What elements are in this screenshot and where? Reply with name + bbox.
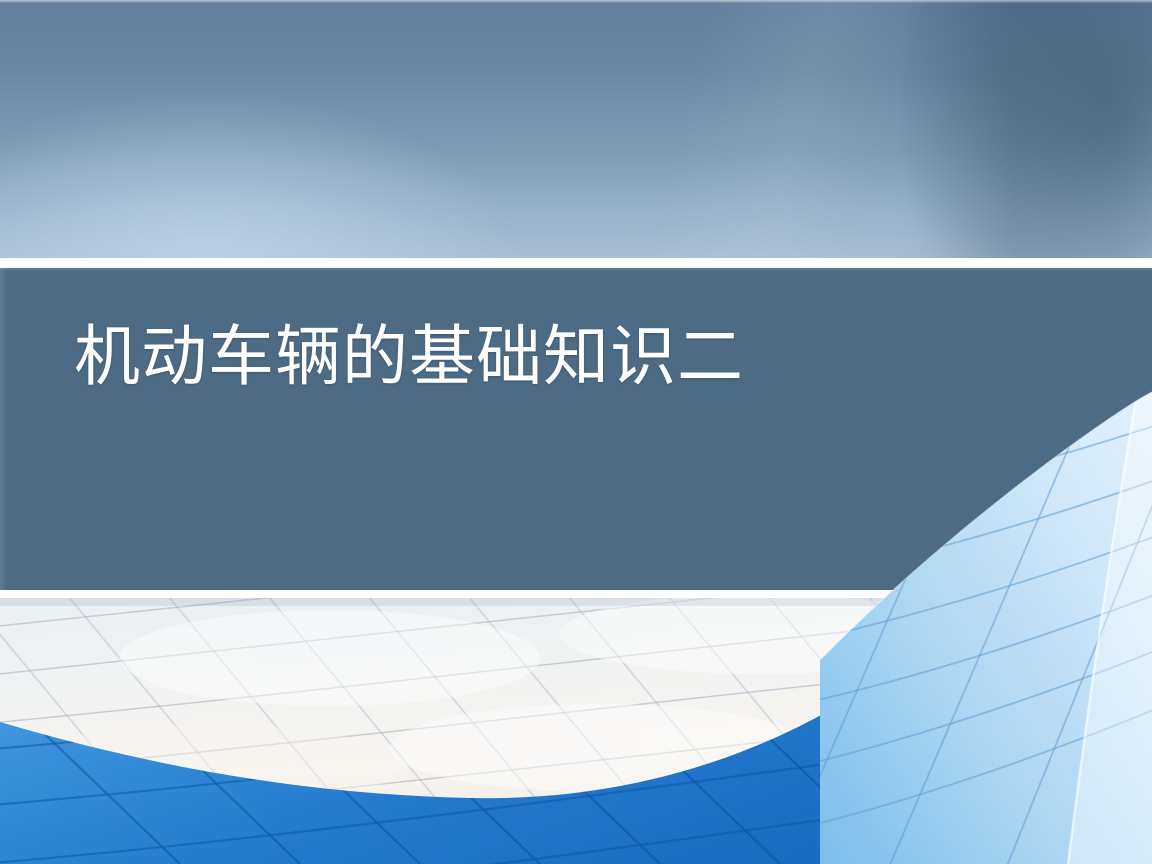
title-band-left-edge: [0, 268, 8, 590]
separator-above-title: [0, 258, 1152, 268]
wave-mesh-graphic: [0, 598, 1152, 864]
slide-title[interactable]: 机动车辆的基础知识二: [74, 320, 1034, 397]
separator-below-title: [0, 590, 1152, 598]
slide-canvas: 机动车辆的基础知识二: [0, 0, 1152, 864]
bottom-artwork: [0, 598, 1152, 864]
title-band: [0, 268, 1152, 590]
title-band-hairline: [0, 268, 1152, 270]
header-sheen-overlay: [0, 0, 1152, 258]
header-top-hairline: [0, 0, 1152, 3]
header-gradient-panel: [0, 0, 1152, 258]
